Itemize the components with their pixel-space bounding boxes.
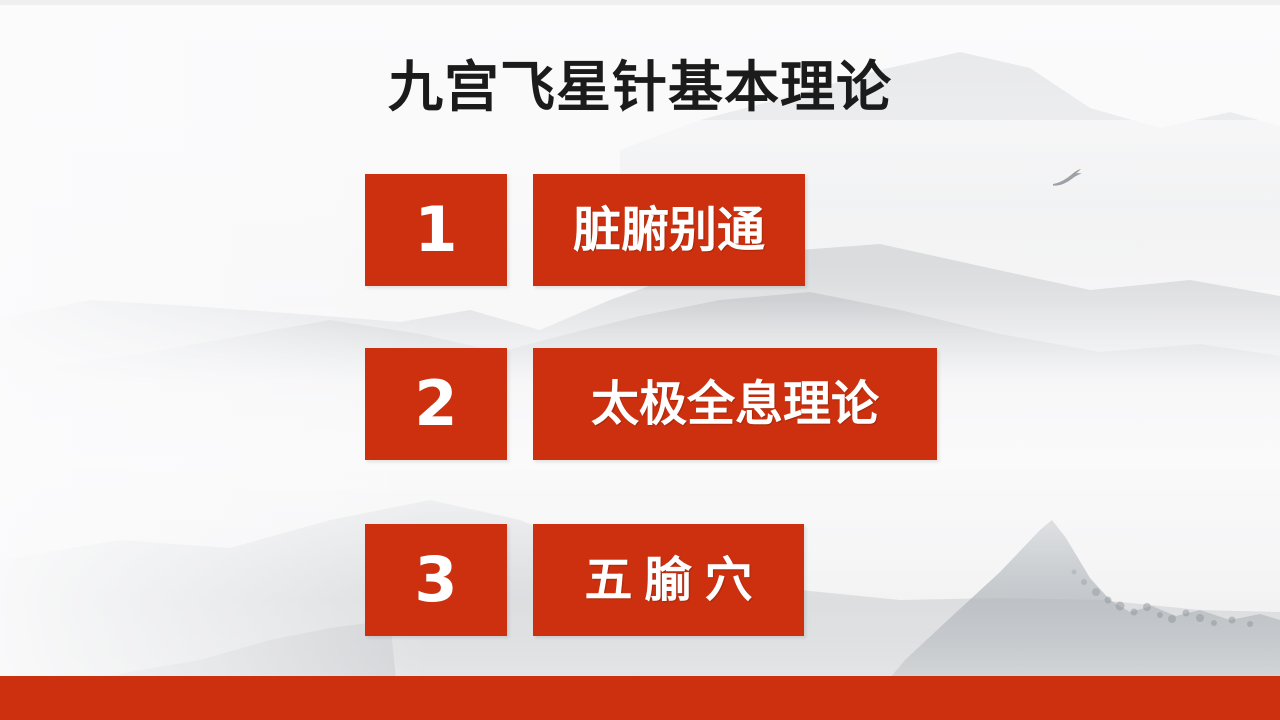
list-item[interactable]: 2 太极全息理论 xyxy=(365,348,937,460)
bottom-accent-bar xyxy=(0,676,1280,720)
item-number-badge-3: 3 xyxy=(365,524,507,636)
slide-root: 九宫飞星针基本理论 1 脏腑别通 2 太极全息理论 3 五腧穴 xyxy=(0,0,1280,720)
item-label-3[interactable]: 五腧穴 xyxy=(533,524,804,636)
item-list: 1 脏腑别通 2 太极全息理论 3 五腧穴 xyxy=(0,0,1280,720)
item-number-badge-2: 2 xyxy=(365,348,507,460)
item-label-2[interactable]: 太极全息理论 xyxy=(533,348,937,460)
list-item[interactable]: 1 脏腑别通 xyxy=(365,174,805,286)
top-strip xyxy=(0,0,1280,5)
list-item[interactable]: 3 五腧穴 xyxy=(365,524,804,636)
item-label-1[interactable]: 脏腑别通 xyxy=(533,174,805,286)
item-number-badge-1: 1 xyxy=(365,174,507,286)
